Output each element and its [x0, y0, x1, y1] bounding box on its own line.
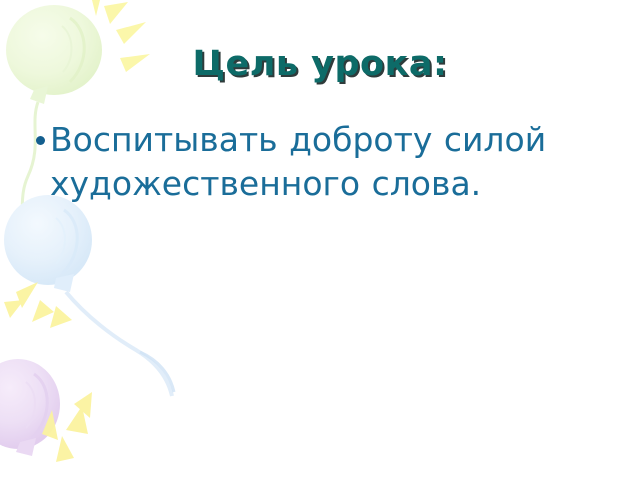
presentation-slide: Цель урока: Воспитывать доброту силой ху…: [0, 0, 640, 480]
bullet-item-text: Воспитывать доброту силой художественног…: [50, 118, 616, 206]
purple-balloon-icon: [0, 359, 92, 462]
blue-balloon-icon: [4, 195, 174, 396]
slide-title-text: Цель урока:: [193, 44, 448, 84]
slide-title: Цель урока:: [0, 44, 640, 84]
bullet-dot-icon: [36, 136, 45, 145]
slide-body: Воспитывать доброту силой художественног…: [36, 118, 616, 206]
purple-balloon-sparkles: [42, 392, 92, 462]
blue-balloon-sparkles: [4, 282, 72, 328]
bullet-item: Воспитывать доброту силой художественног…: [36, 118, 616, 206]
